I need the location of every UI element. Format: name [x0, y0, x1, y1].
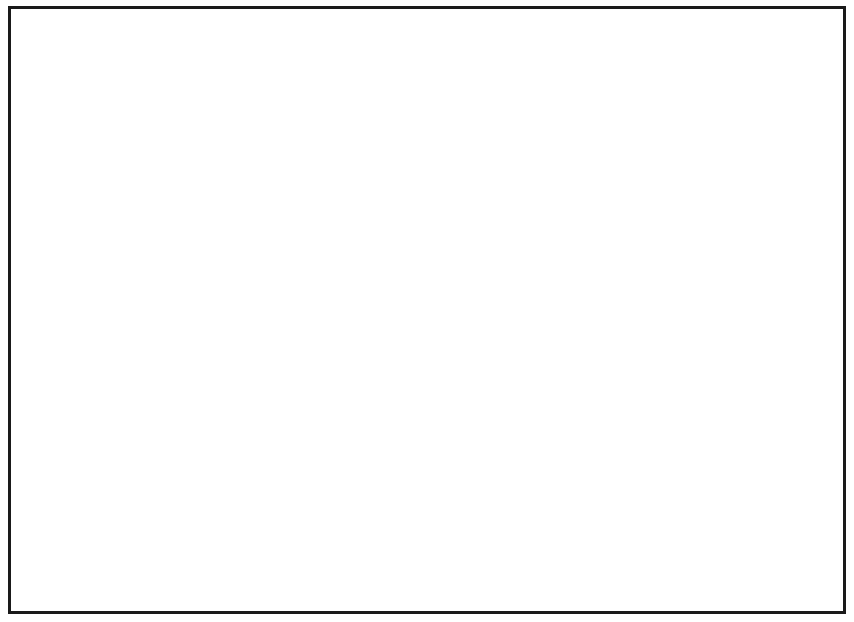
annotation-arrows	[69, 122, 839, 506]
plot-area	[69, 122, 839, 506]
x-axis	[85, 506, 839, 576]
chart-frame	[8, 6, 846, 614]
